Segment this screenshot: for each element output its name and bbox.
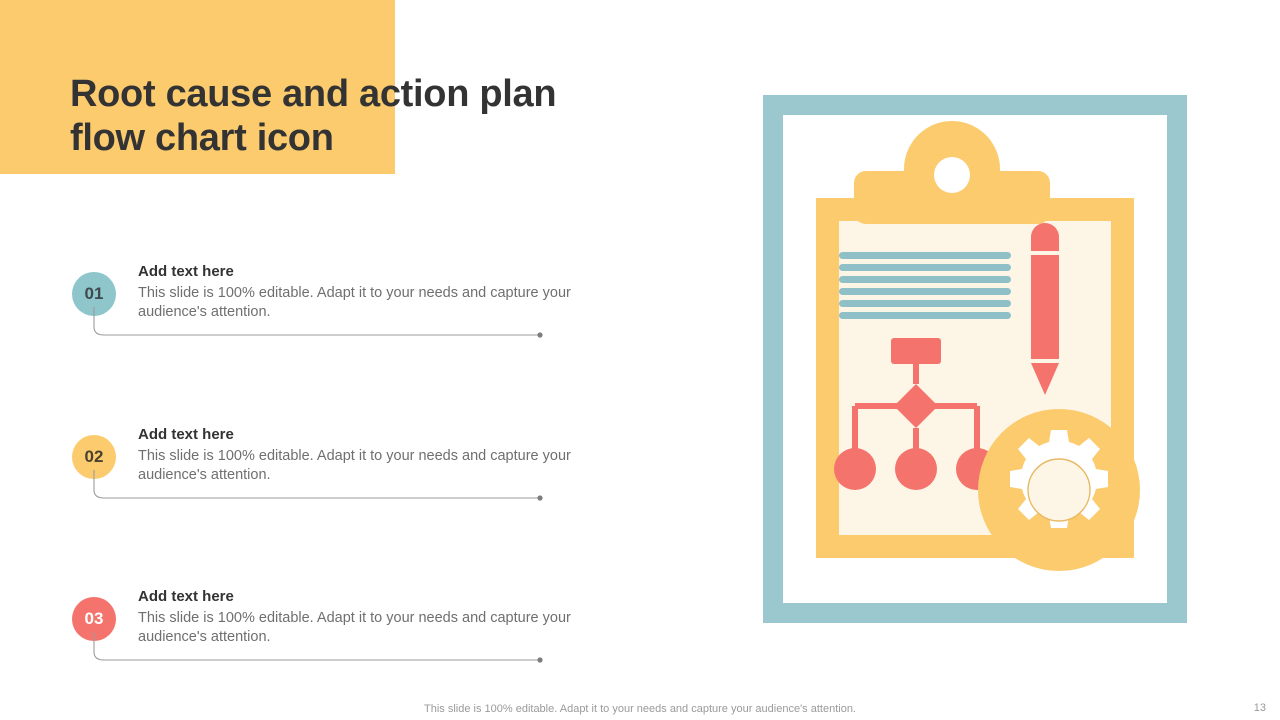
clip-hole (934, 157, 970, 193)
list-item-number-badge: 03 (72, 597, 116, 641)
list-item-number-badge: 02 (72, 435, 116, 479)
footer-note: This slide is 100% editable. Adapt it to… (0, 703, 1280, 715)
list-item-description: This slide is 100% editable. Adapt it to… (138, 447, 628, 485)
list-item-body: Add text here This slide is 100% editabl… (138, 588, 628, 647)
clipboard-flowchart-gear-icon (763, 95, 1187, 623)
list-item[interactable]: 01 Add text here This slide is 100% edit… (0, 255, 700, 367)
pencil-icon (1031, 223, 1059, 395)
bullet-list: 01 Add text here This slide is 100% edit… (0, 0, 700, 720)
list-item-body: Add text here This slide is 100% editabl… (138, 263, 628, 322)
list-item-description: This slide is 100% editable. Adapt it to… (138, 609, 628, 647)
list-item-number-badge: 01 (72, 272, 116, 316)
list-item-description: This slide is 100% editable. Adapt it to… (138, 284, 628, 322)
page-number: 13 (1254, 702, 1266, 714)
gear-icon (978, 409, 1140, 571)
list-item[interactable]: 02 Add text here This slide is 100% edit… (0, 418, 700, 530)
list-item-body: Add text here This slide is 100% editabl… (138, 426, 628, 485)
list-item-heading: Add text here (138, 263, 628, 281)
list-item-heading: Add text here (138, 426, 628, 444)
list-item-heading: Add text here (138, 588, 628, 606)
list-item[interactable]: 03 Add text here This slide is 100% edit… (0, 580, 700, 692)
